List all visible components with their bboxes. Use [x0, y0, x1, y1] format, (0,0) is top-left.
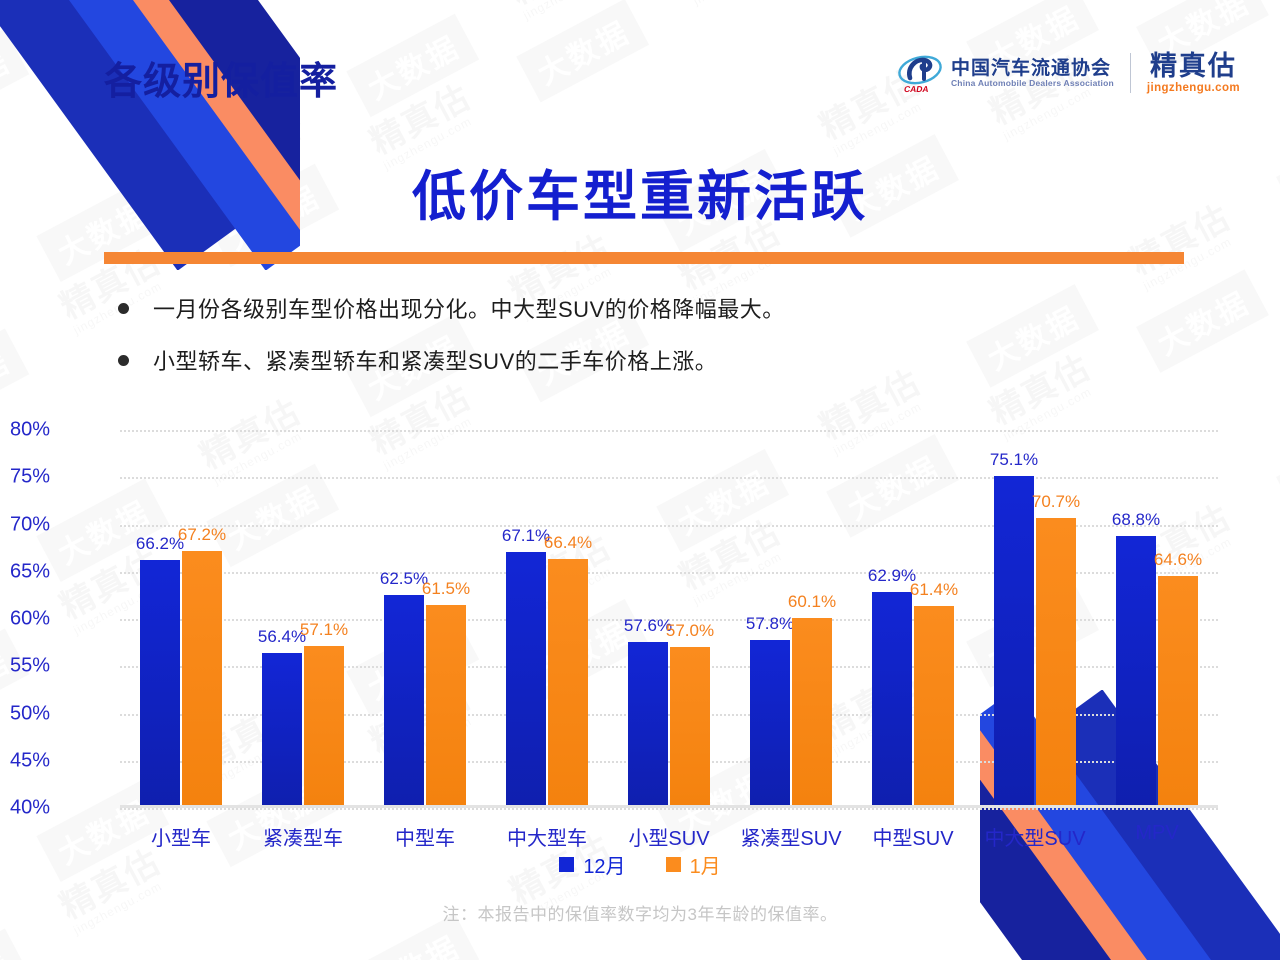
y-axis-tick-label: 40%: [0, 797, 50, 820]
bar-group: 57.6%57.0%: [628, 430, 710, 808]
y-axis-tick-label: 50%: [0, 702, 50, 725]
x-axis-label-中型车: 中型车: [395, 822, 455, 851]
bar-value-label: 66.2%: [136, 534, 184, 554]
bar-value-label: 62.9%: [868, 566, 916, 586]
legend-label: 12月: [583, 850, 625, 879]
x-axis-label-紧凑型SUV: 紧凑型SUV: [740, 822, 841, 851]
bar-group: 67.1%66.4%: [506, 430, 588, 808]
bar-value-label: 62.5%: [380, 569, 428, 589]
bar-12月-中型SUV: [872, 592, 912, 808]
bar-1月-MPV: [1158, 576, 1198, 808]
brand-divider: [1130, 53, 1131, 93]
bar-1月-紧凑型SUV: [792, 618, 832, 808]
x-axis-label-小型车: 小型车: [151, 822, 211, 851]
footnote: 注：本报告中的保值率数字均为3年车龄的保值率。: [0, 900, 1280, 925]
bar-value-label: 75.1%: [990, 450, 1038, 470]
bar-chart: 80%75%70%65%60%55%50%45%40% 66.2%67.2%56…: [0, 418, 1280, 888]
bar-1月-中型SUV: [914, 606, 954, 808]
bar-group: 62.5%61.5%: [384, 430, 466, 808]
legend-label: 1月: [690, 850, 721, 879]
bar-value-label: 57.0%: [666, 621, 714, 641]
bar-group: 75.1%70.7%: [994, 430, 1076, 808]
bar-12月-MPV: [1116, 536, 1156, 808]
bar-1月-小型SUV: [670, 647, 710, 808]
y-axis-tick-label: 60%: [0, 608, 50, 631]
svg-text:CADA: CADA: [903, 84, 929, 94]
bar-12月-紧凑型SUV: [750, 640, 790, 808]
bar-group: 57.8%60.1%: [750, 430, 832, 808]
list-item: 小型轿车、紧凑型轿车和紧凑型SUV的二手车价格上涨。: [118, 344, 785, 376]
bar-group: 62.9%61.4%: [872, 430, 954, 808]
bar-value-label: 64.6%: [1154, 550, 1202, 570]
bullet-list: 一月份各级别车型价格出现分化。中大型SUV的价格降幅最大。 小型轿车、紧凑型轿车…: [118, 292, 785, 396]
x-axis-label-紧凑型车: 紧凑型车: [263, 822, 343, 851]
brand-bar: CADA 中国汽车流通协会 China Automobile Dealers A…: [897, 52, 1240, 94]
gridline: [120, 808, 1218, 810]
bar-value-label: 56.4%: [258, 627, 306, 647]
x-axis-label-MPV: MPV: [1135, 822, 1178, 845]
main-headline: 低价车型重新活跃: [0, 152, 1280, 231]
y-axis-tick-label: 55%: [0, 655, 50, 678]
bar-value-label: 61.4%: [910, 580, 958, 600]
orange-divider: [104, 252, 1184, 264]
bar-value-label: 67.1%: [502, 526, 550, 546]
cada-name-en: China Automobile Dealers Association: [951, 79, 1114, 88]
bar-12月-小型SUV: [628, 642, 668, 808]
jingzhengu-url: jingzhengu.com: [1147, 82, 1240, 95]
cada-logo-block: CADA 中国汽车流通协会 China Automobile Dealers A…: [897, 52, 1114, 94]
bar-value-label: 60.1%: [788, 592, 836, 612]
bullet-dot-icon: [118, 303, 129, 314]
jingzhengu-name-cn: 精真估: [1147, 52, 1240, 82]
bar-1月-小型车: [182, 551, 222, 808]
x-axis-label-中型SUV: 中型SUV: [872, 822, 953, 851]
legend-item-12月[interactable]: 12月: [559, 850, 625, 879]
bar-value-label: 67.2%: [178, 525, 226, 545]
bar-group: 56.4%57.1%: [262, 430, 344, 808]
y-axis-tick-label: 70%: [0, 513, 50, 536]
legend-item-1月[interactable]: 1月: [666, 850, 721, 879]
bullet-text: 小型轿车、紧凑型轿车和紧凑型SUV的二手车价格上涨。: [153, 344, 717, 376]
x-axis-label-中大型SUV: 中大型SUV: [984, 822, 1085, 851]
x-axis-line: [120, 805, 1218, 808]
y-axis-tick-label: 65%: [0, 560, 50, 583]
y-axis-tick-label: 75%: [0, 466, 50, 489]
bar-group: 68.8%64.6%: [1116, 430, 1198, 808]
bar-12月-中大型SUV: [994, 476, 1034, 808]
bar-1月-紧凑型车: [304, 646, 344, 808]
bar-12月-紧凑型车: [262, 653, 302, 808]
bar-group: 66.2%67.2%: [140, 430, 222, 808]
cada-swirl-icon: CADA: [897, 52, 943, 94]
chart-legend: 12月1月: [0, 850, 1280, 879]
y-axis-tick-label: 45%: [0, 749, 50, 772]
bullet-text: 一月份各级别车型价格出现分化。中大型SUV的价格降幅最大。: [153, 292, 785, 324]
bullet-dot-icon: [118, 355, 129, 366]
bar-value-label: 61.5%: [422, 579, 470, 599]
bar-value-label: 66.4%: [544, 533, 592, 553]
y-axis-tick-label: 80%: [0, 419, 50, 442]
bar-1月-中大型SUV: [1036, 518, 1076, 808]
bar-value-label: 57.6%: [624, 616, 672, 636]
list-item: 一月份各级别车型价格出现分化。中大型SUV的价格降幅最大。: [118, 292, 785, 324]
bar-value-label: 70.7%: [1032, 492, 1080, 512]
bar-12月-中型车: [384, 595, 424, 808]
cada-name-cn: 中国汽车流通协会: [951, 59, 1114, 79]
bar-value-label: 57.8%: [746, 614, 794, 634]
bar-12月-小型车: [140, 560, 180, 808]
plot-area: 80%75%70%65%60%55%50%45%40% 66.2%67.2%56…: [120, 430, 1218, 808]
jingzhengu-logo-block: 精真估 jingzhengu.com: [1147, 52, 1240, 94]
page-title: 各级别保值率: [104, 50, 338, 105]
legend-swatch-icon: [666, 857, 681, 872]
bar-1月-中型车: [426, 605, 466, 808]
x-axis-label-中大型车: 中大型车: [507, 822, 587, 851]
legend-swatch-icon: [559, 857, 574, 872]
bar-1月-中大型车: [548, 559, 588, 808]
bar-value-label: 57.1%: [300, 620, 348, 640]
x-axis-label-小型SUV: 小型SUV: [628, 822, 709, 851]
bar-value-label: 68.8%: [1112, 510, 1160, 530]
bar-12月-中大型车: [506, 552, 546, 808]
